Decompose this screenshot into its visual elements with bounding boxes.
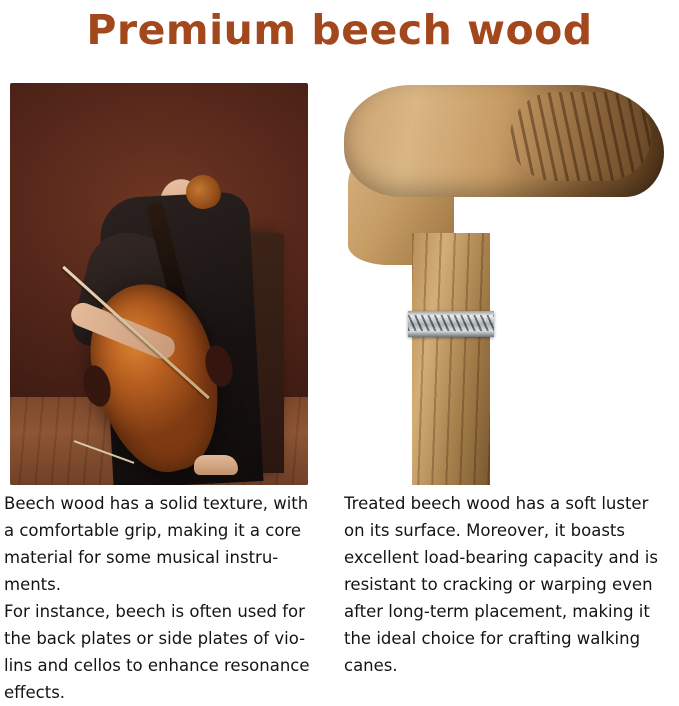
description-columns: Beech wood has a solid texture, with a c… bbox=[0, 490, 679, 680]
right-paragraph-1: Treated beech wood has a soft luster on … bbox=[344, 490, 674, 679]
cane-illustration bbox=[326, 83, 669, 485]
cane-handle-top-decor bbox=[344, 85, 664, 197]
page-title: Premium beech wood bbox=[0, 2, 679, 58]
cane-shaft-decor bbox=[412, 233, 490, 485]
bare-foot-decor bbox=[194, 455, 238, 475]
cane-metal-collar-decor bbox=[408, 311, 494, 337]
left-paragraph-2: For instance, beech is often used for th… bbox=[4, 598, 316, 706]
left-paragraph-1: Beech wood has a solid texture, with a c… bbox=[4, 490, 316, 598]
cellist-playing-cello-photo bbox=[10, 83, 308, 485]
left-description-column: Beech wood has a solid texture, with a c… bbox=[4, 490, 316, 706]
beech-wood-cane-handle-photo bbox=[326, 83, 669, 485]
product-feature-page: Premium beech wood bbox=[0, 0, 679, 680]
image-row bbox=[10, 83, 669, 485]
right-description-column: Treated beech wood has a soft luster on … bbox=[344, 490, 674, 679]
